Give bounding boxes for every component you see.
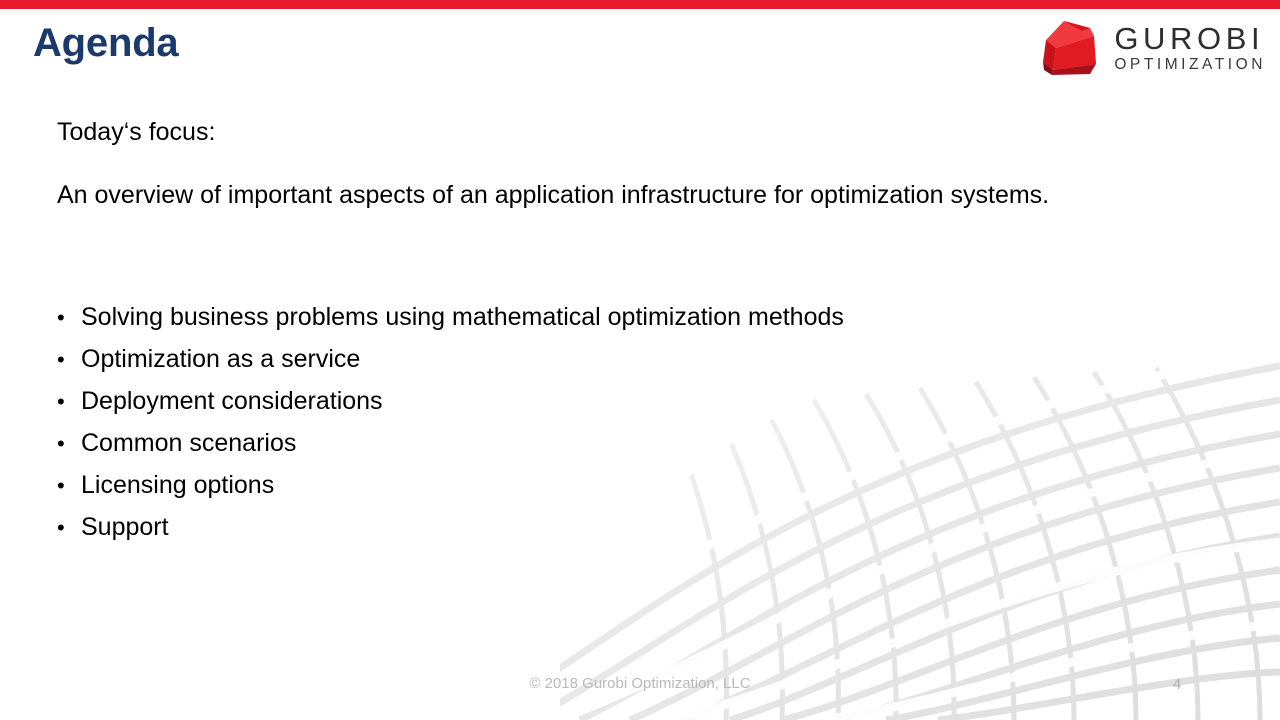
bullet-marker-icon: • bbox=[57, 345, 81, 375]
bullet-marker-icon: • bbox=[57, 513, 81, 543]
logo-name: GUROBI bbox=[1114, 23, 1266, 55]
list-item-label: Solving business problems using mathemat… bbox=[81, 302, 844, 332]
logo-subtitle: OPTIMIZATION bbox=[1114, 57, 1266, 73]
list-item: • Common scenarios bbox=[57, 428, 844, 470]
list-item: • Support bbox=[57, 512, 844, 554]
bullet-marker-icon: • bbox=[57, 471, 81, 501]
bullet-marker-icon: • bbox=[57, 429, 81, 459]
bullet-marker-icon: • bbox=[57, 387, 81, 417]
slide-number: 4 bbox=[1160, 676, 1194, 693]
list-item: • Solving business problems using mathem… bbox=[57, 302, 844, 344]
top-accent-bar bbox=[0, 0, 1280, 9]
page-title: Agenda bbox=[33, 21, 178, 66]
gurobi-logo: GUROBI OPTIMIZATION bbox=[1038, 18, 1266, 80]
gurobi-polyhedron-icon bbox=[1038, 18, 1104, 80]
list-item-label: Common scenarios bbox=[81, 428, 296, 458]
list-item-label: Optimization as a service bbox=[81, 344, 360, 374]
list-item: • Optimization as a service bbox=[57, 344, 844, 386]
slide-body: Today‘s focus: An overview of important … bbox=[57, 118, 1177, 210]
lead-text: An overview of important aspects of an a… bbox=[57, 181, 1177, 211]
list-item-label: Deployment considerations bbox=[81, 386, 383, 416]
agenda-bullet-list: • Solving business problems using mathem… bbox=[57, 302, 844, 554]
list-item-label: Licensing options bbox=[81, 470, 274, 500]
list-item: • Deployment considerations bbox=[57, 386, 844, 428]
list-item: • Licensing options bbox=[57, 470, 844, 512]
list-item-label: Support bbox=[81, 512, 169, 542]
bullet-marker-icon: • bbox=[57, 303, 81, 333]
lead-label: Today‘s focus: bbox=[57, 118, 1177, 148]
presentation-slide: Agenda GUROBI OPTIMIZATION Today‘s focus… bbox=[0, 0, 1280, 720]
copyright-notice: © 2018 Gurobi Optimization, LLC bbox=[0, 675, 1280, 692]
logo-wordmark: GUROBI OPTIMIZATION bbox=[1114, 23, 1266, 75]
